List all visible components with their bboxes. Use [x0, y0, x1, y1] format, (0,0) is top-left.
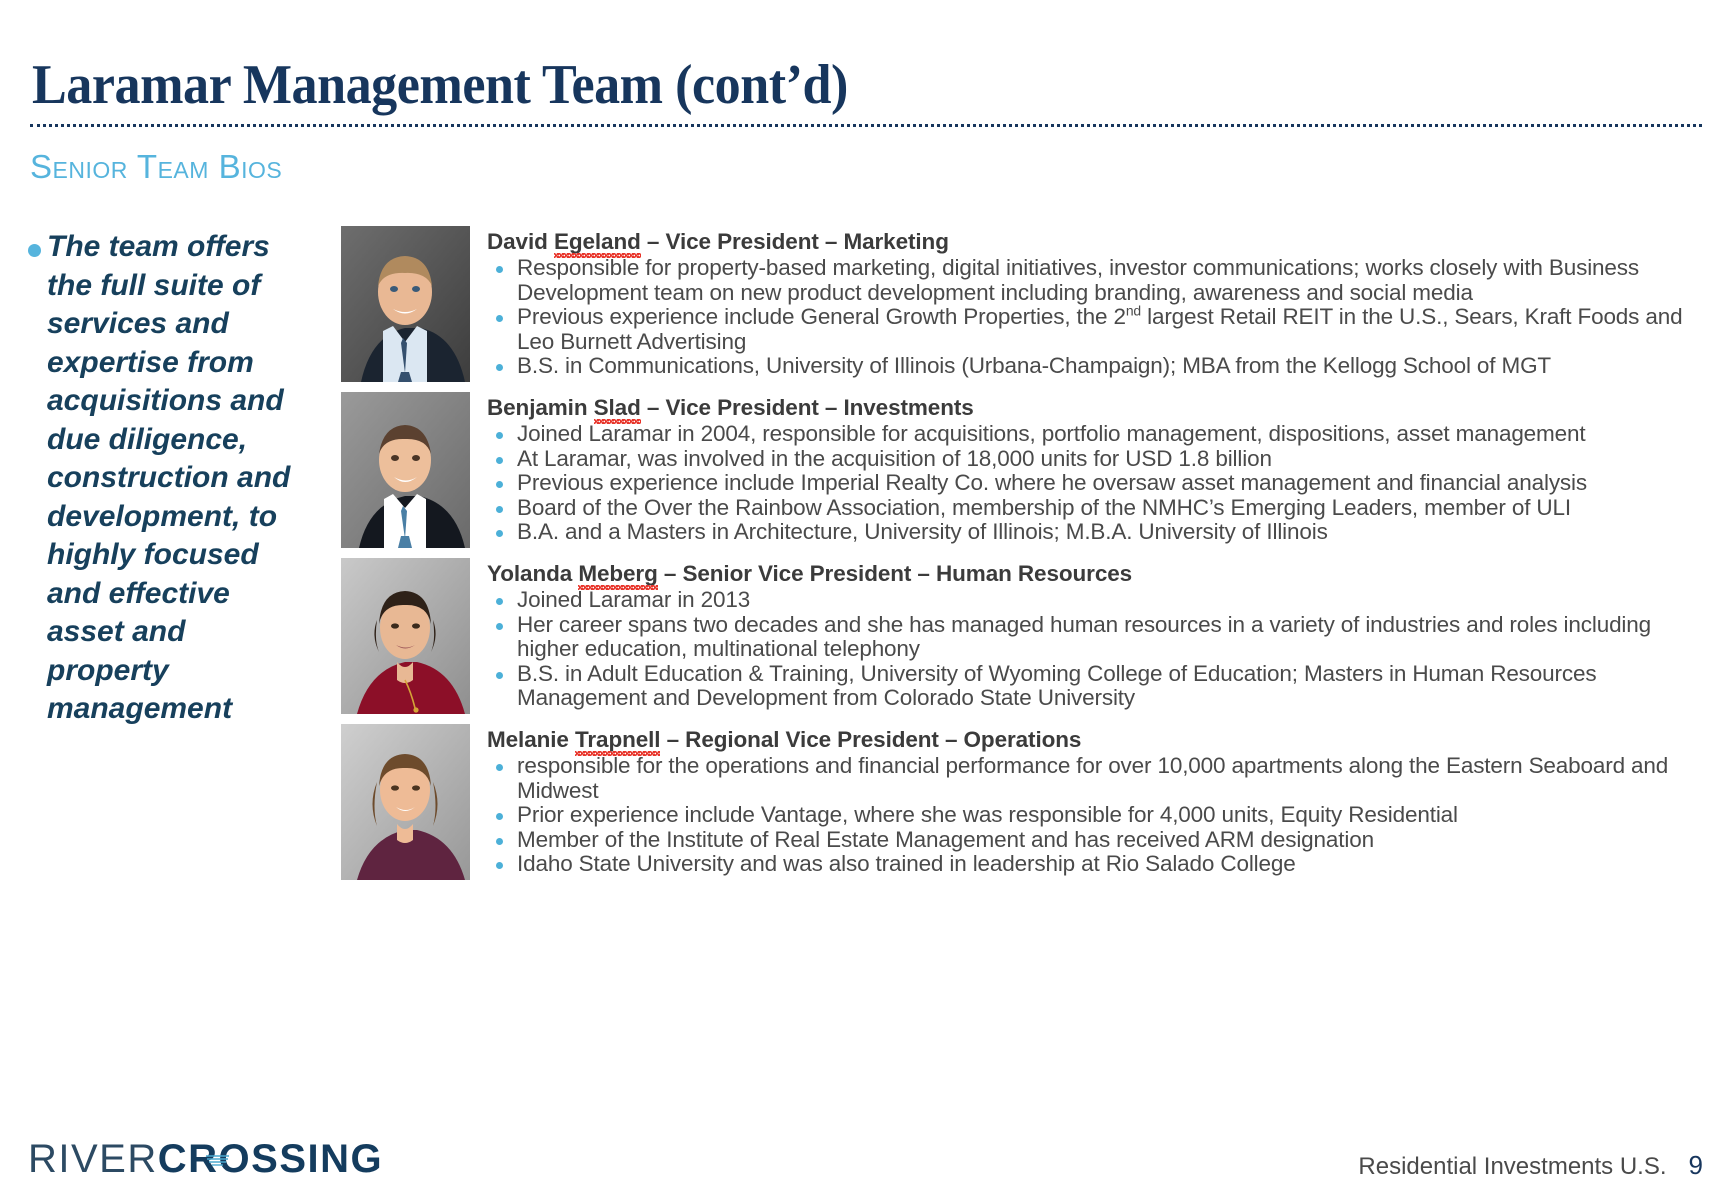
list-item: Previous experience include Imperial Rea… — [487, 471, 1711, 496]
photo-melanie-trapnell — [341, 724, 470, 880]
bio-name-prefix: David — [487, 229, 554, 254]
bio-bullets: Joined Laramar in 2013 Her career spans … — [487, 588, 1711, 711]
bio-bullets: Responsible for property-based marketing… — [487, 256, 1711, 379]
bio-heading: Yolanda Meberg – Senior Vice President –… — [487, 560, 1132, 587]
list-item: responsible for the operations and finan… — [487, 754, 1711, 803]
title-divider — [30, 124, 1702, 127]
list-item: At Laramar, was involved in the acquisit… — [487, 447, 1711, 472]
logo-crossing-label: CROSSING — [158, 1137, 383, 1181]
bio-bullets: responsible for the operations and finan… — [487, 754, 1711, 877]
bio-name-misspelled: Meberg — [578, 561, 657, 586]
bio-name-prefix: Benjamin — [487, 395, 594, 420]
photo-david-egeland — [341, 226, 470, 382]
photo-yolanda-meberg — [341, 558, 470, 714]
bio-name-prefix: Yolanda — [487, 561, 578, 586]
section-label: Senior Team Bios — [30, 148, 282, 186]
list-item: Previous experience include General Grow… — [487, 305, 1711, 354]
list-item: Joined Laramar in 2004, responsible for … — [487, 422, 1711, 447]
bio-body: David Egeland – Vice President – Marketi… — [470, 226, 1711, 379]
bio-name-prefix: Melanie — [487, 727, 575, 752]
bio-body: Benjamin Slad – Vice President – Investm… — [470, 392, 1711, 545]
footer-label: Residential Investments U.S. — [1358, 1153, 1666, 1181]
list-item: Responsible for property-based marketing… — [487, 256, 1711, 305]
bio-bullets: Joined Laramar in 2004, responsible for … — [487, 422, 1711, 545]
bio-name-suffix: – Vice President – Marketing — [641, 229, 949, 254]
list-item: B.S. in Adult Education & Training, Univ… — [487, 662, 1711, 711]
list-item: Board of the Over the Rainbow Associatio… — [487, 496, 1711, 521]
bio-row: Yolanda Meberg – Senior Vice President –… — [341, 558, 1711, 714]
callout-text: The team offers the full suite of servic… — [47, 228, 295, 729]
list-item: Joined Laramar in 2013 — [487, 588, 1711, 613]
list-item: Idaho State University and was also trai… — [487, 852, 1711, 877]
logo-crossing-text: CROSSING — [158, 1137, 383, 1182]
list-item: Prior experience include Vantage, where … — [487, 803, 1711, 828]
page-title: Laramar Management Team (cont’d) — [32, 54, 848, 116]
bio-list: David Egeland – Vice President – Marketi… — [341, 226, 1711, 890]
bio-row: David Egeland – Vice President – Marketi… — [341, 226, 1711, 382]
logo-river-text: RIVER — [28, 1137, 158, 1182]
list-item: Her career spans two decades and she has… — [487, 613, 1711, 662]
bio-body: Yolanda Meberg – Senior Vice President –… — [470, 558, 1711, 711]
bio-row: Benjamin Slad – Vice President – Investm… — [341, 392, 1711, 548]
list-item: Member of the Institute of Real Estate M… — [487, 828, 1711, 853]
callout-block: The team offers the full suite of servic… — [28, 228, 328, 729]
bio-body: Melanie Trapnell – Regional Vice Preside… — [470, 724, 1711, 877]
wave-icon — [205, 1154, 230, 1167]
bio-name-suffix: – Senior Vice President – Human Resource… — [658, 561, 1132, 586]
bullet-icon — [28, 244, 41, 257]
bio-name-suffix: – Vice President – Investments — [641, 395, 974, 420]
rivercrossing-logo: RIVER CROSSING — [28, 1137, 383, 1182]
bio-heading: Benjamin Slad – Vice President – Investm… — [487, 394, 974, 421]
footer-right: Residential Investments U.S. 9 — [1358, 1150, 1703, 1181]
list-item: B.S. in Communications, University of Il… — [487, 354, 1711, 379]
list-item: B.A. and a Masters in Architecture, Univ… — [487, 520, 1711, 545]
bio-name-misspelled: Slad — [594, 395, 641, 420]
bio-name-suffix: – Regional Vice President – Operations — [660, 727, 1081, 752]
page-number: 9 — [1689, 1150, 1703, 1181]
photo-benjamin-slad — [341, 392, 470, 548]
bio-heading: David Egeland – Vice President – Marketi… — [487, 228, 949, 255]
bio-heading: Melanie Trapnell – Regional Vice Preside… — [487, 726, 1081, 753]
bio-row: Melanie Trapnell – Regional Vice Preside… — [341, 724, 1711, 880]
bio-name-misspelled: Egeland — [554, 229, 641, 254]
bio-name-misspelled: Trapnell — [575, 727, 660, 752]
